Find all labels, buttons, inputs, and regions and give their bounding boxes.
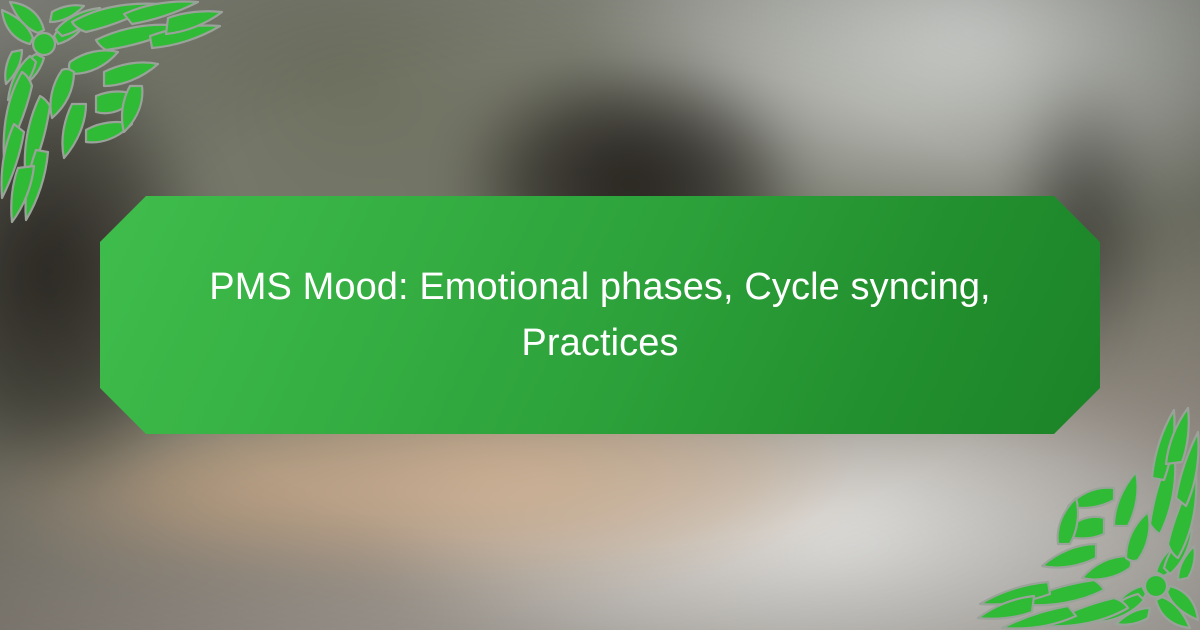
page-title: PMS Mood: Emotional phases, Cycle syncin… (205, 259, 995, 371)
title-banner: PMS Mood: Emotional phases, Cycle syncin… (100, 196, 1100, 434)
share-banner-canvas: PMS Mood: Emotional phases, Cycle syncin… (0, 0, 1200, 630)
